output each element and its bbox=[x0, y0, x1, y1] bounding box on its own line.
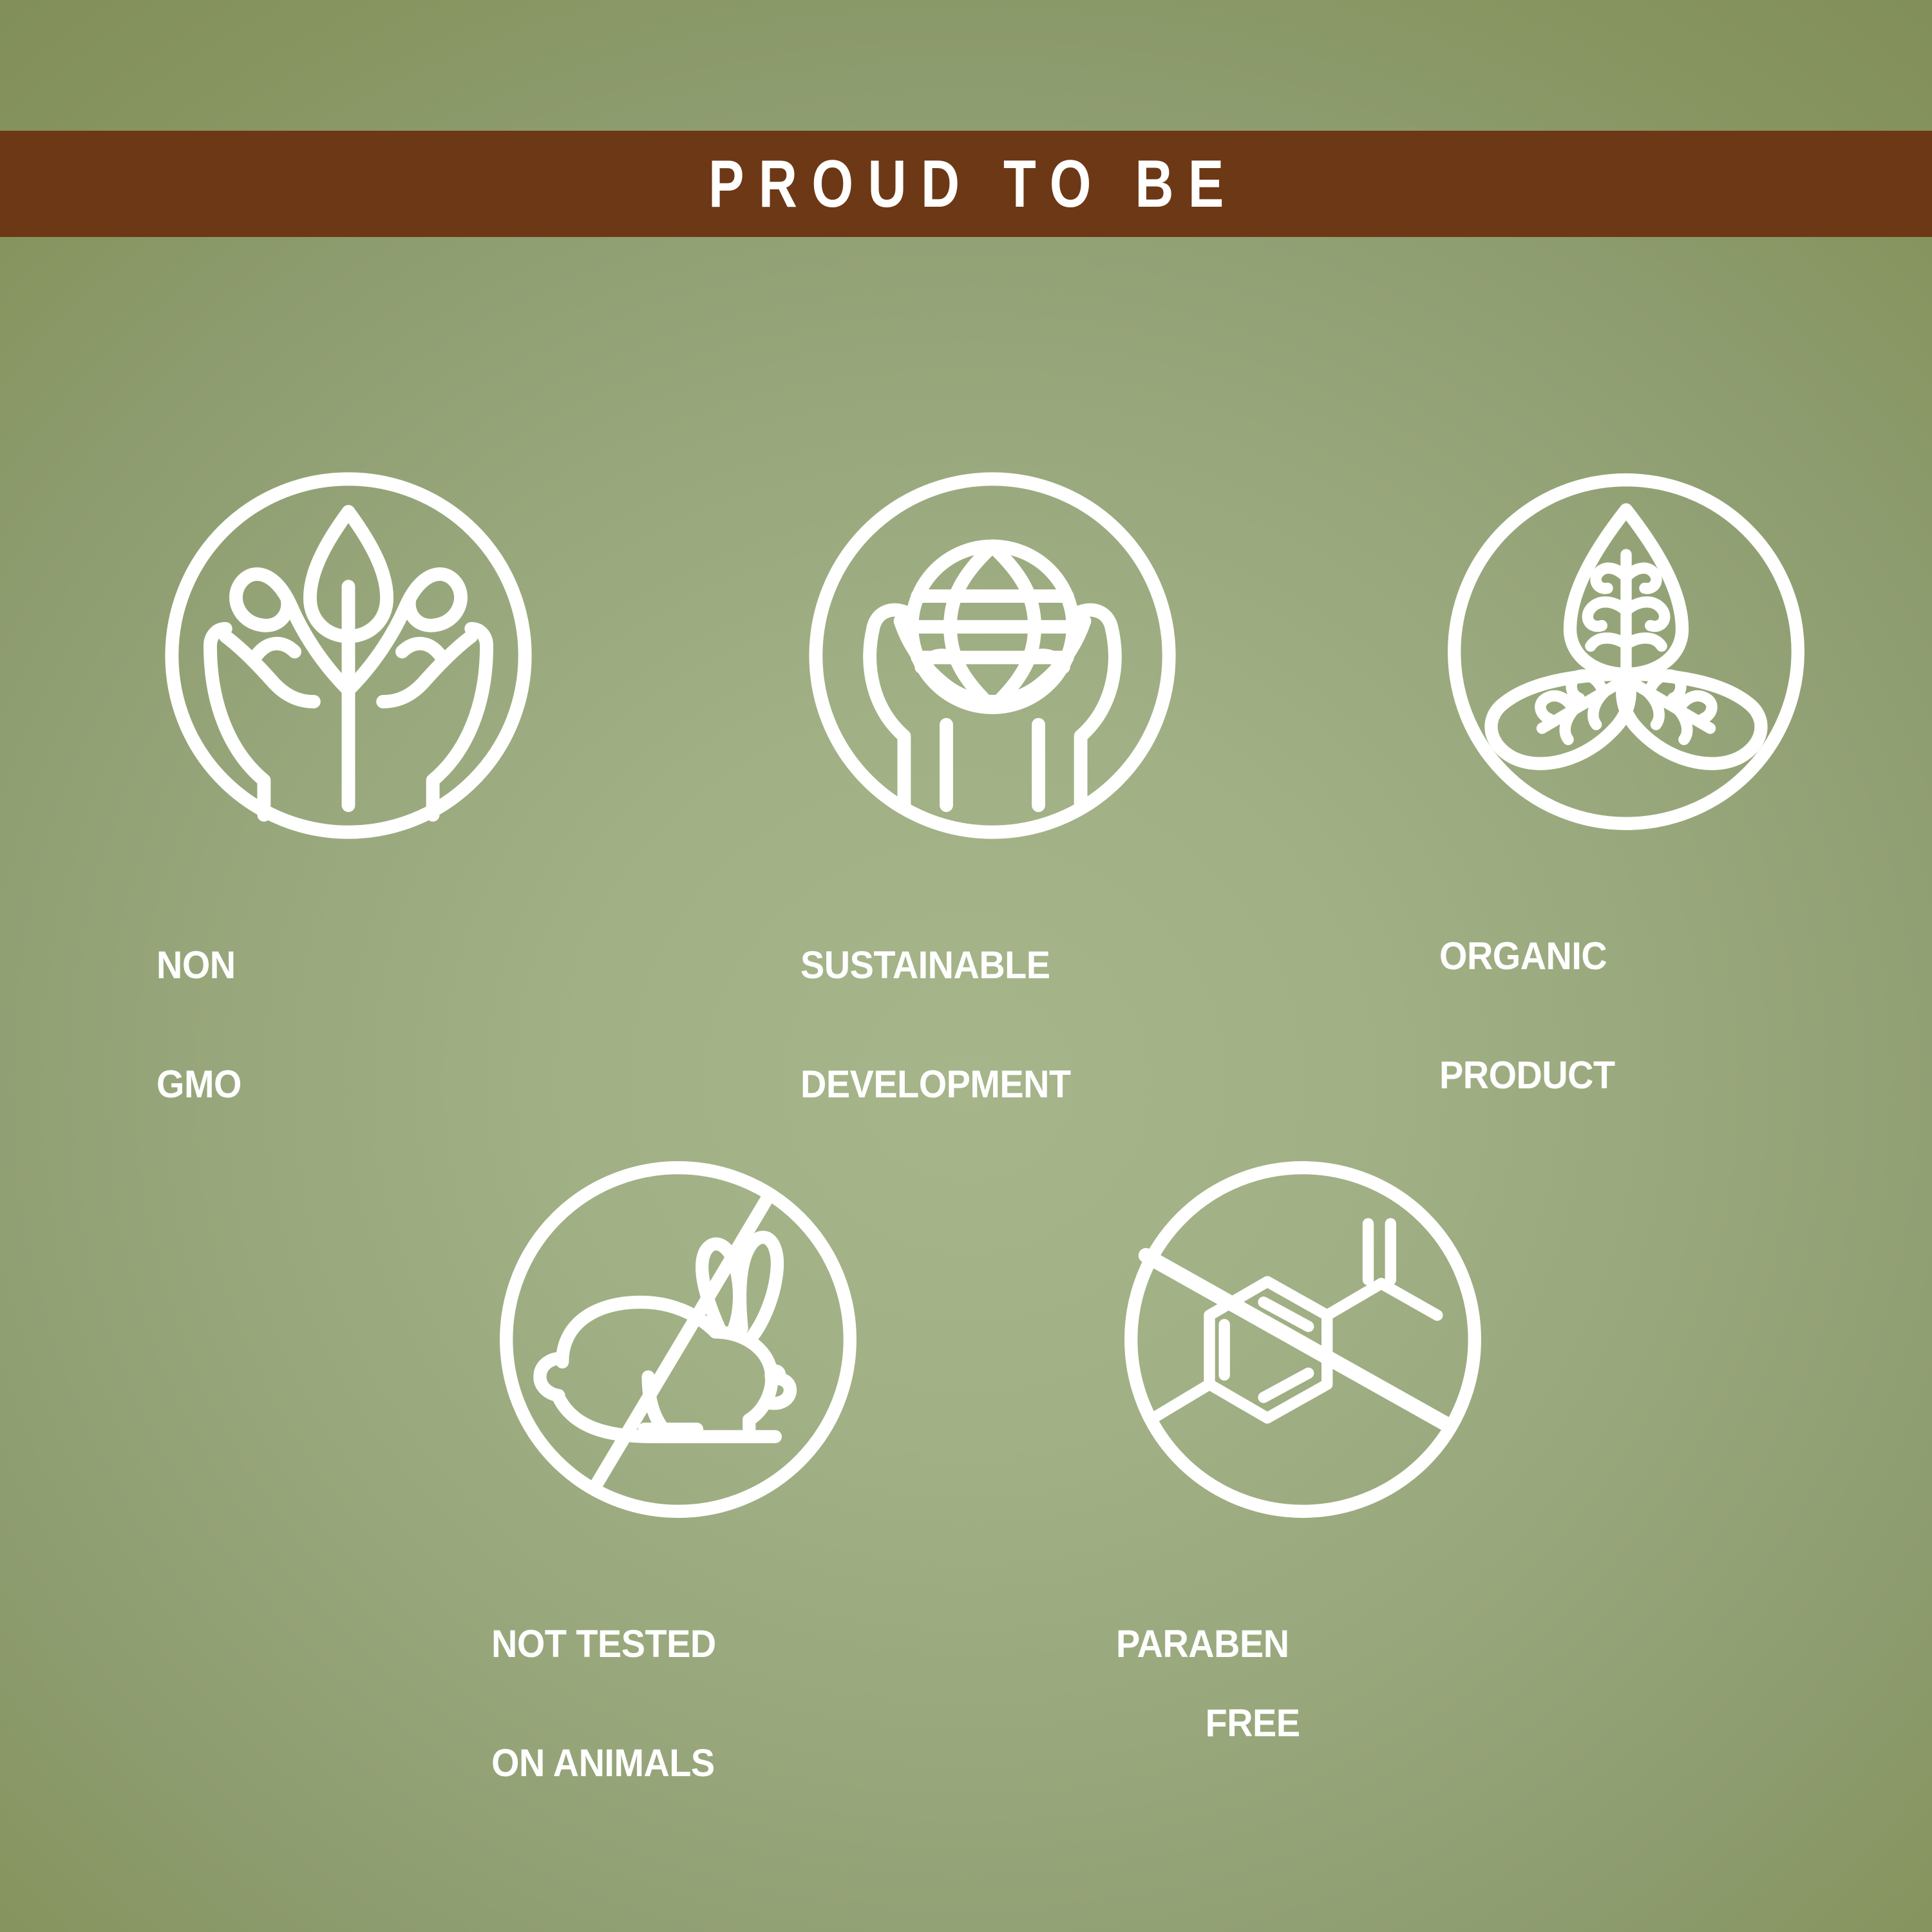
hands-holding-globe-icon bbox=[800, 464, 1184, 848]
sustainable-development-icon-circle bbox=[800, 464, 1184, 848]
label-line-2: ON ANIMALS bbox=[491, 1743, 838, 1783]
label-line-2: FREE bbox=[1174, 1703, 1300, 1743]
organic-product-icon-circle bbox=[1439, 465, 1813, 838]
badge-sustainable-development: SUSTAINABLE DEVELOPMENT bbox=[800, 464, 1184, 1184]
sustainable-development-label: SUSTAINABLE DEVELOPMENT bbox=[800, 866, 1157, 1184]
label-line-1: ORGANIC bbox=[1439, 936, 1786, 976]
no-chemical-molecule-icon bbox=[1116, 1153, 1490, 1526]
label-line-2: GMO bbox=[156, 1065, 513, 1104]
label-line-2: PRODUCT bbox=[1439, 1056, 1786, 1095]
hands-holding-plant-icon bbox=[156, 464, 540, 848]
label-line-1: PARABEN bbox=[1116, 1624, 1463, 1664]
proud-to-be-banner: PROUD TO BE bbox=[0, 131, 1932, 237]
non-gmo-icon-circle bbox=[156, 464, 540, 848]
paraben-free-icon-circle bbox=[1116, 1153, 1490, 1526]
non-gmo-label: NON GMO bbox=[156, 866, 513, 1184]
badge-organic-product: ORGANIC PRODUCT bbox=[1439, 465, 1813, 1175]
organic-product-label: ORGANIC PRODUCT bbox=[1439, 857, 1786, 1175]
banner-title: PROUD TO BE bbox=[694, 151, 1238, 218]
badge-paraben-free: PARABEN FREE bbox=[1116, 1153, 1490, 1783]
not-tested-on-animals-icon-circle bbox=[491, 1153, 865, 1526]
label-line-2: DEVELOPMENT bbox=[800, 1065, 1157, 1104]
label-line-1: NON bbox=[156, 945, 513, 985]
trefoil-leaf-icon bbox=[1439, 465, 1813, 838]
badge-not-tested-on-animals: NOT TESTED ON ANIMALS bbox=[491, 1153, 865, 1862]
label-line-1: SUSTAINABLE bbox=[800, 945, 1157, 985]
badge-non-gmo: NON GMO bbox=[156, 464, 540, 1184]
rabbit-no-testing-icon bbox=[491, 1153, 865, 1526]
poster-canvas: PROUD TO BE bbox=[0, 0, 1932, 1932]
not-tested-on-animals-label: NOT TESTED ON ANIMALS bbox=[491, 1544, 838, 1862]
paraben-free-label: PARABEN FREE bbox=[1116, 1544, 1463, 1783]
label-line-1: NOT TESTED bbox=[491, 1624, 838, 1664]
